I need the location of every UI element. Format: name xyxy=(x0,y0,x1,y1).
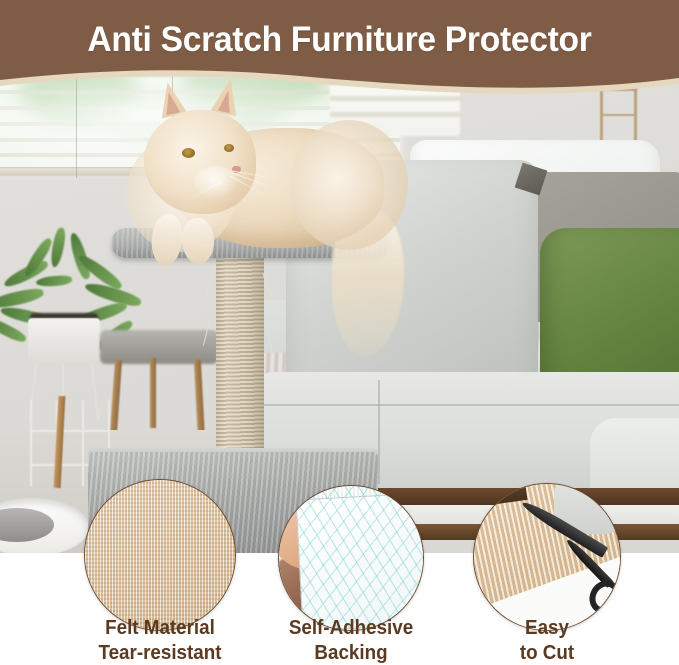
feature-adhesive-label-line1: Self-Adhesive xyxy=(248,616,455,641)
feature-felt-label: Felt Material Tear-resistant xyxy=(57,616,264,665)
header-banner: Anti Scratch Furniture Protector xyxy=(0,0,679,96)
background-rack xyxy=(600,88,652,148)
cat xyxy=(120,78,390,264)
feature-adhesive-label-line2: Backing xyxy=(248,641,455,665)
feature-felt-swatch xyxy=(84,479,236,631)
sofa-seam xyxy=(262,404,679,406)
feature-cut-label: Easy to Cut xyxy=(444,616,651,665)
cat-fur-fluff xyxy=(290,120,408,250)
page-title: Anti Scratch Furniture Protector xyxy=(14,20,666,60)
feature-felt-label-line2: Tear-resistant xyxy=(57,641,264,665)
cat-eye-left xyxy=(182,148,195,158)
adhesive-sheet xyxy=(296,493,424,631)
feature-cut-label-line1: Easy xyxy=(444,616,651,641)
feature-adhesive-swatch xyxy=(278,485,424,631)
feature-cut-swatch xyxy=(473,483,621,631)
cat-eye-right xyxy=(224,144,234,152)
cat-head xyxy=(144,110,256,214)
feature-cut-label-line2: to Cut xyxy=(444,641,651,665)
sisal-scratching-post xyxy=(216,252,264,460)
sofa-seam xyxy=(378,380,380,484)
product-marketing-poster: Anti Scratch Furniture Protector Felt Ma… xyxy=(0,0,679,665)
feature-adhesive-label: Self-Adhesive Backing xyxy=(248,616,455,665)
feature-felt-label-line1: Felt Material xyxy=(57,616,264,641)
